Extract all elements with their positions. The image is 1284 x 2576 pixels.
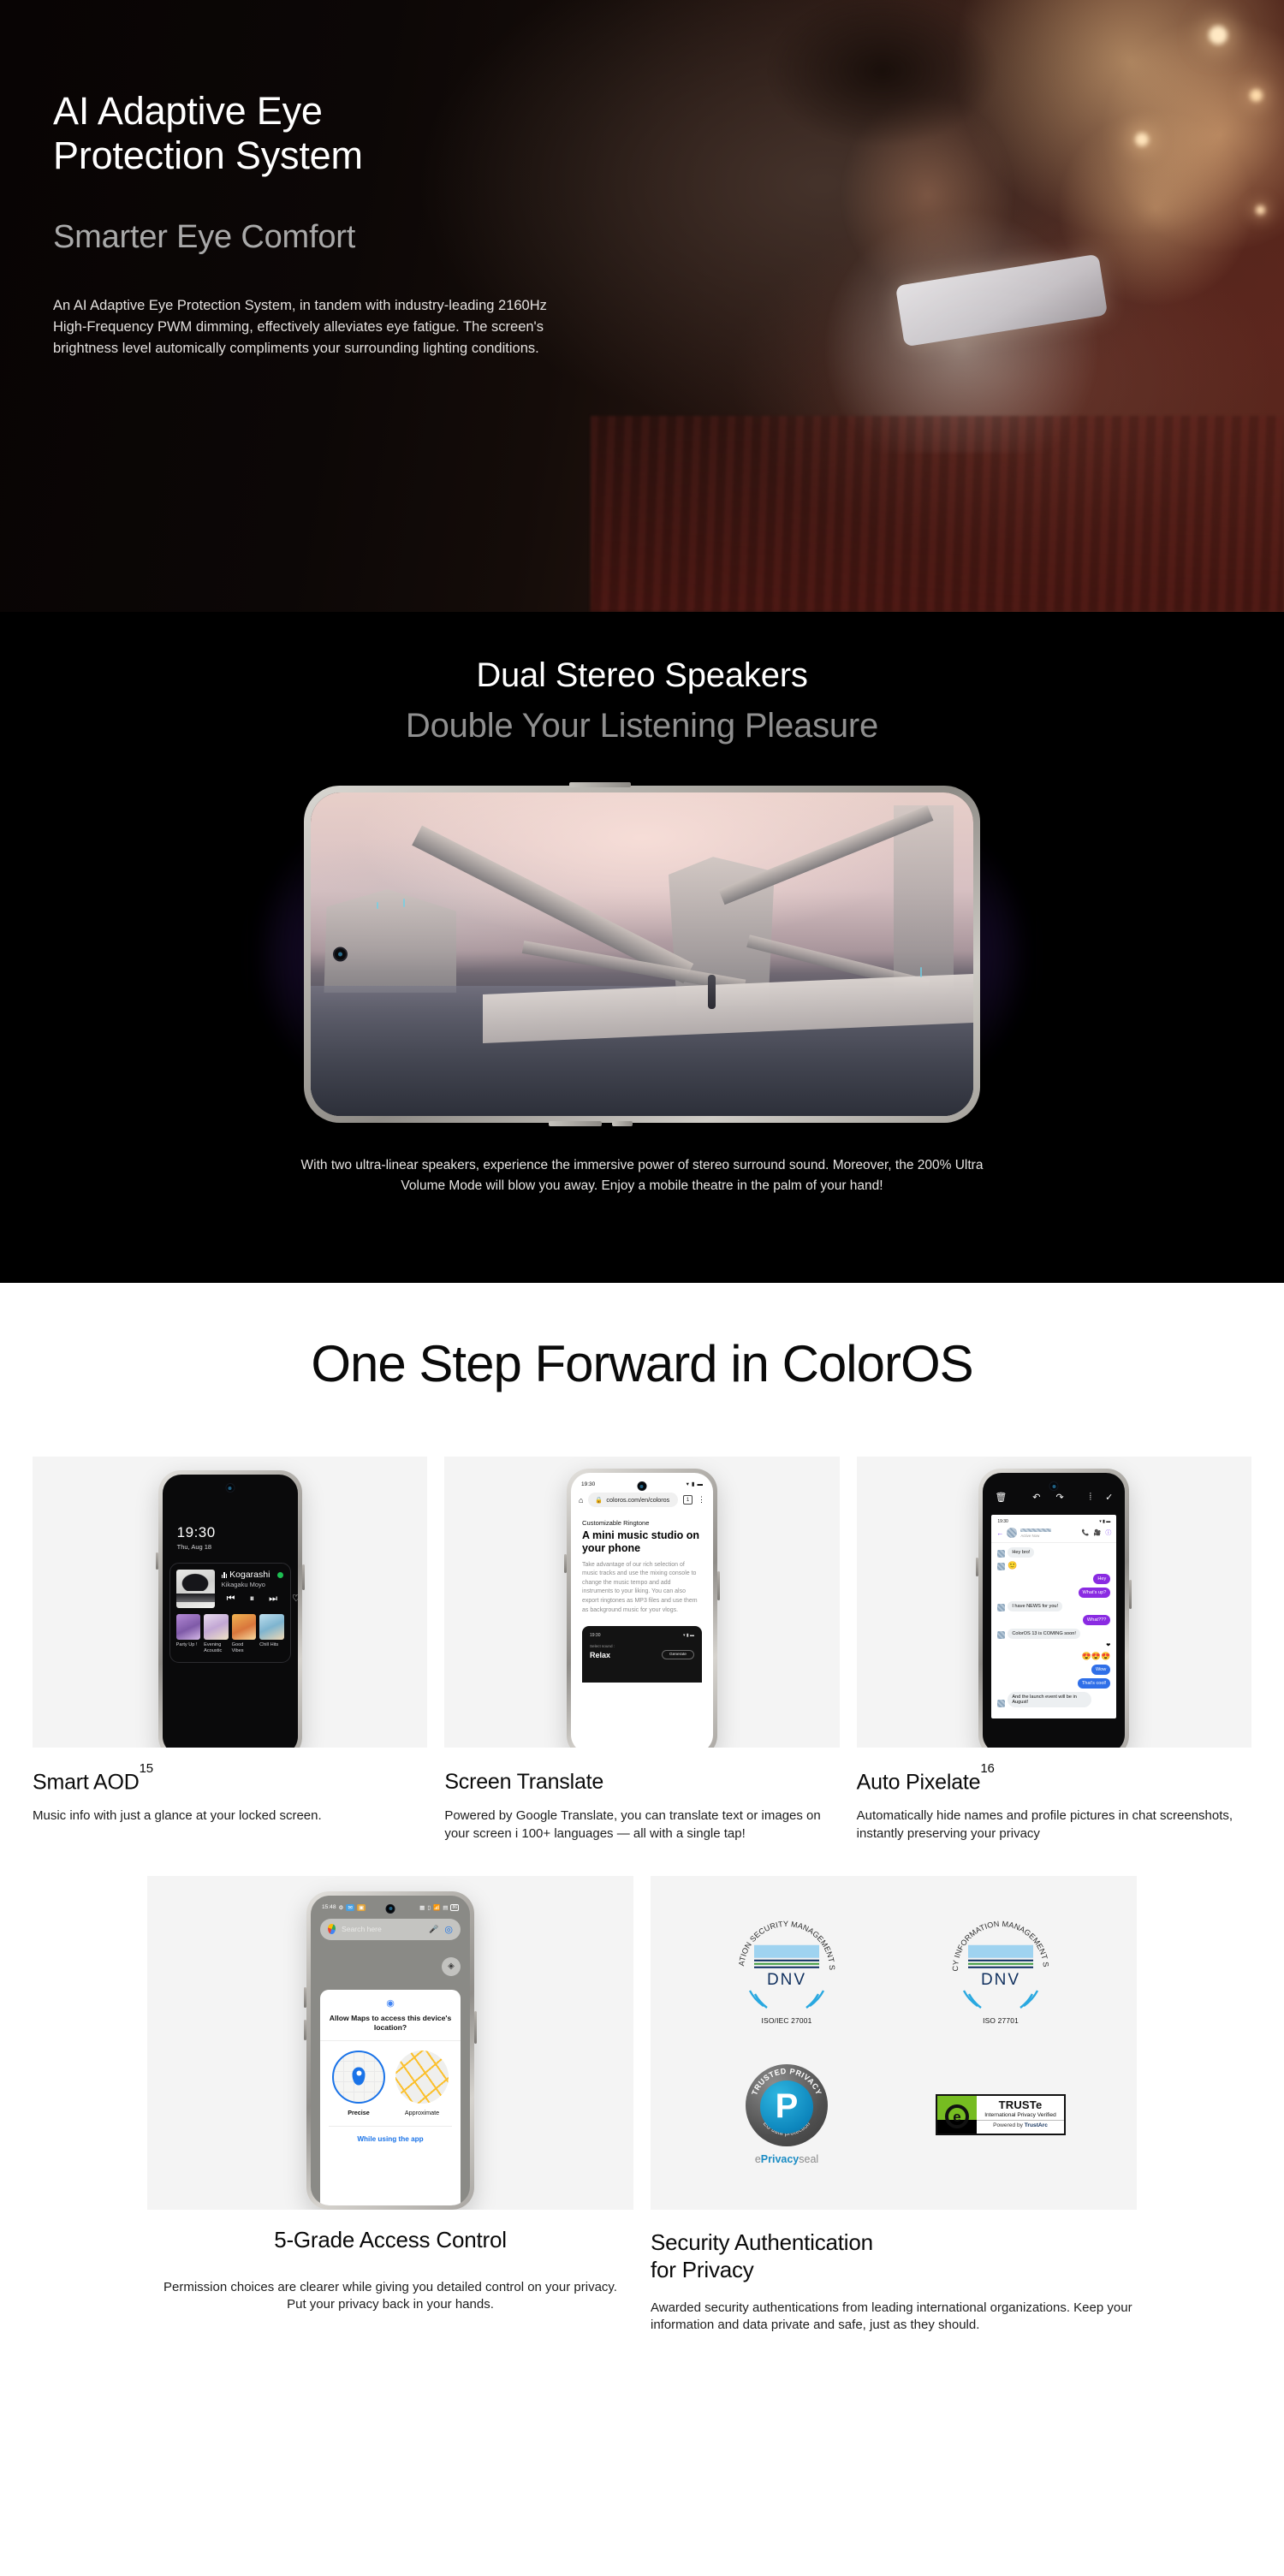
- mini-time: 19:30: [590, 1633, 601, 1638]
- phone-side-button: [474, 2011, 477, 2044]
- message-bubble: Hey bro!: [1008, 1547, 1034, 1558]
- aod-music-widget[interactable]: Kogarashi Kikagaku Moyo ⏮ ⏸ ⏭: [169, 1563, 291, 1663]
- card-title-screen-translate: Screen Translate: [444, 1770, 839, 1795]
- eprivacy-seal-icon: TRUSTED PRIVACY EU data protection P: [746, 2064, 828, 2146]
- dnv-logo: DNV: [754, 1944, 819, 1990]
- permission-options[interactable]: Precise Approximate: [329, 2051, 452, 2116]
- front-camera-icon: [637, 1481, 646, 1491]
- powered-by-text: Powered by: [993, 2122, 1025, 2128]
- card-security-media: INFORMATION SECURITY MANAGEMENT SYSTEM D…: [651, 1876, 1137, 2210]
- game-scene-art: [311, 792, 973, 1116]
- truste-e-icon: e: [945, 2104, 969, 2128]
- badge-eprivacyseal: TRUSTED PRIVACY EU data protection P: [746, 2064, 828, 2165]
- card-desc-smart-aod: Music info with just a glance at your lo…: [33, 1807, 427, 1825]
- phone-mockup-pixelate: 🗑 ↶ ↷ ⦙ ✓ 19:30 ▾: [978, 1469, 1129, 1748]
- card-desc-access-control: Permission choices are clearer while giv…: [147, 2279, 633, 2314]
- game-tower: [894, 805, 954, 993]
- aod-artist: Kikagaku Moyo: [222, 1581, 284, 1588]
- card-access-control-media: 15:48 ⚙ ✉ ▣ ▦ ▯ 📶 ▤ 8: [147, 1876, 633, 2210]
- product-page: AI Adaptive Eye Protection System Smarte…: [0, 0, 1284, 2576]
- dnv-standard-27701: ISO 27701: [937, 2016, 1064, 2025]
- eprivacy-letter: P: [776, 2089, 799, 2123]
- status-right: ▦ ▯ 📶 ▤ 86: [419, 1904, 459, 1911]
- dnv-ring-27701: PRIVACY INFORMATION MANAGEMENT SYSTEM DN…: [947, 1915, 1055, 2023]
- footnote-marker: 16: [980, 1761, 994, 1776]
- check-icon[interactable]: ✓: [1105, 1492, 1113, 1503]
- dnv-flag-icon: [968, 1944, 1033, 1968]
- list-item: What's up?: [997, 1588, 1110, 1598]
- lock-icon: 🔒: [595, 1496, 603, 1504]
- mini-sound-name: Relax: [590, 1651, 610, 1659]
- list-item[interactable]: Good Vibes: [232, 1614, 257, 1654]
- heart-reaction-icon: ❤: [1106, 1642, 1110, 1648]
- list-item: Hey: [997, 1574, 1110, 1584]
- aod-track-title: Kogarashi: [229, 1570, 270, 1580]
- landscape-phone-screen: [311, 792, 973, 1116]
- bokeh-light-icon: [1250, 89, 1263, 102]
- trash-icon[interactable]: 🗑: [995, 1492, 1007, 1503]
- landscape-phone-mockup: [304, 786, 980, 1123]
- search-placeholder: Search here: [342, 1925, 423, 1933]
- front-camera-icon: [1049, 1481, 1059, 1491]
- eye-protection-heading: AI Adaptive Eye Protection System: [53, 89, 601, 178]
- phone-side-button: [717, 1571, 720, 1600]
- dual-stereo-speakers-section: Dual Stereo Speakers Double Your Listeni…: [0, 612, 1284, 1283]
- approximate-map-preview: [395, 2051, 449, 2104]
- list-item[interactable]: Chill Hits: [259, 1614, 284, 1654]
- playlist-label: Chill Hits: [259, 1642, 284, 1648]
- contact-status: Active Now: [1020, 1534, 1051, 1538]
- video-call-icon[interactable]: 🎥: [1094, 1529, 1102, 1536]
- more-menu-icon[interactable]: ⋮: [698, 1495, 705, 1505]
- truste-mark: e: [937, 2096, 977, 2134]
- rug-texture: [591, 416, 1284, 612]
- truste-text: TRUSTe International Privacy Verified Po…: [977, 2096, 1064, 2134]
- aod-track-meta: Kogarashi Kikagaku Moyo ⏮ ⏸ ⏭: [222, 1570, 284, 1604]
- message-emoji: 😍😍😍: [1082, 1652, 1111, 1661]
- prev-icon[interactable]: ⏮: [227, 1594, 235, 1604]
- phone-mockup-aod: 19:30 Thu, Aug 18 Kogarashi: [158, 1470, 302, 1748]
- dnv-flag-icon: [754, 1944, 819, 1968]
- spotify-icon: [276, 1571, 284, 1579]
- speakers-subheading: Double Your Listening Pleasure: [0, 707, 1284, 745]
- badge-truste: e TRUSTe International Privacy Verified …: [936, 2094, 1066, 2135]
- front-camera-icon: [225, 1483, 235, 1493]
- chat-header-icons[interactable]: 📞 🎥 ⓘ: [1082, 1528, 1111, 1537]
- playlist-thumb: [232, 1614, 257, 1640]
- caption-seal: seal: [799, 2153, 818, 2165]
- card-title-text: Screen Translate: [444, 1770, 603, 1794]
- pixelated-contact-name: [1020, 1528, 1051, 1533]
- option-label: Approximate: [395, 2109, 449, 2116]
- message-bubble: I have NEWS for you!: [1008, 1601, 1062, 1611]
- phone-button-bottom: [549, 1121, 602, 1126]
- sim-icon: ▯: [427, 1904, 431, 1911]
- home-icon[interactable]: ⌂: [579, 1496, 583, 1505]
- wifi-icon: 📶: [433, 1904, 440, 1911]
- eprivacy-p-circle: P: [760, 2080, 813, 2134]
- list-item: I have NEWS for you!: [997, 1601, 1110, 1611]
- badge-dnv-iso-27701: PRIVACY INFORMATION MANAGEMENT SYSTEM DN…: [937, 1915, 1064, 2025]
- mini-label: Select sound :: [590, 1644, 694, 1648]
- truste-title: TRUSTe: [977, 2098, 1064, 2111]
- message-bubble: What's up?: [1079, 1588, 1111, 1598]
- card-title-access-control: 5-Grade Access Control: [147, 2227, 633, 2253]
- badge-truste-wrapper: e TRUSTe International Privacy Verified …: [936, 2094, 1066, 2135]
- phone-volume-button: [564, 1554, 567, 1573]
- list-item[interactable]: Evening Acoustic: [204, 1614, 229, 1654]
- page-eyebrow: Customizable Ringtone: [582, 1519, 702, 1527]
- precise-map-preview: [332, 2051, 385, 2104]
- speakers-stage: [0, 759, 1284, 1149]
- front-camera-icon: [386, 1904, 395, 1914]
- maps-screen: 15:48 ⚙ ✉ ▣ ▦ ▯ 📶 ▤ 8: [311, 1896, 470, 2205]
- message-bubble: What???: [1083, 1615, 1110, 1625]
- card-title-auto-pixelate: Auto Pixelate16: [857, 1770, 1251, 1795]
- contact-block: Active Now: [1020, 1528, 1051, 1538]
- chat-messages: Hey bro! 🙂 Hey: [991, 1543, 1116, 1712]
- location-pin-icon: ◉: [329, 1999, 452, 2009]
- list-item: That's cool!: [997, 1678, 1110, 1689]
- eye-protection-body: An AI Adaptive Eye Protection System, in…: [53, 295, 558, 359]
- card-access-control[interactable]: 15:48 ⚙ ✉ ▣ ▦ ▯ 📶 ▤ 8: [147, 1876, 633, 2314]
- card-title-text: Auto Pixelate: [857, 1770, 981, 1794]
- message-bubble: Hey: [1093, 1574, 1110, 1584]
- pixelated-avatar: [997, 1700, 1005, 1707]
- eye-protection-section: AI Adaptive Eye Protection System Smarte…: [0, 0, 1284, 612]
- mini-status-icons: ▾ ▮ ▬: [683, 1633, 694, 1638]
- footnote-marker: 15: [140, 1761, 153, 1776]
- while-using-app-button[interactable]: While using the app: [329, 2126, 452, 2143]
- url-text: coloros.com/en/coloros: [606, 1496, 669, 1504]
- coloros-section: One Step Forward in ColorOS 19:30 Thu, A…: [0, 1283, 1284, 2335]
- aod-now-playing: Kogarashi Kikagaku Moyo ⏮ ⏸ ⏭: [176, 1570, 284, 1608]
- chat-time: 19:30: [997, 1519, 1008, 1524]
- card-screen-translate[interactable]: 19:30 ▾ ▮ ▬ ⌂ 🔒: [444, 1457, 839, 1843]
- phone-mockup-maps: 15:48 ⚙ ✉ ▣ ▦ ▯ 📶 ▤ 8: [306, 1891, 474, 2210]
- status-time: 19:30: [581, 1481, 595, 1487]
- google-maps-icon: [328, 1924, 336, 1934]
- playlist-label: Party Up !: [176, 1642, 201, 1648]
- card-desc-auto-pixelate: Automatically hide names and profile pic…: [857, 1807, 1251, 1843]
- phone-volume-button-2: [304, 2020, 306, 2040]
- permission-question: Allow Maps to access this device's locat…: [329, 2014, 452, 2033]
- chat-screenshot: 19:30 ▾ ▮ ▬ ← Active Now: [991, 1515, 1116, 1718]
- back-icon[interactable]: ←: [996, 1529, 1003, 1537]
- option-label: Precise: [332, 2109, 385, 2116]
- gear-icon: ⚙: [339, 1904, 344, 1911]
- avatar[interactable]: ◎: [444, 1924, 453, 1935]
- phone-volume-button: [976, 1558, 978, 1576]
- option-precise[interactable]: Precise: [332, 2051, 385, 2116]
- album-art: [176, 1570, 215, 1608]
- pause-icon[interactable]: ⏸: [250, 1594, 255, 1604]
- phone-side-button: [1129, 1580, 1132, 1609]
- list-item[interactable]: Party Up !: [176, 1614, 201, 1654]
- dnv-ring-27001: INFORMATION SECURITY MANAGEMENT SYSTEM D…: [733, 1915, 841, 2023]
- browser-toolbar[interactable]: ⌂ 🔒 coloros.com/en/coloros 1 ⋮: [571, 1487, 713, 1514]
- card-title-text: Smart AOD: [33, 1770, 140, 1794]
- feature-cards-row: 19:30 Thu, Aug 18 Kogarashi: [0, 1457, 1284, 1843]
- phone-mockup-translate: 19:30 ▾ ▮ ▬ ⌂ 🔒: [567, 1469, 717, 1748]
- message-bubble: Wow: [1091, 1665, 1110, 1675]
- reaction-row: ❤: [997, 1642, 1110, 1648]
- search-input[interactable]: Search here 🎤 ◎: [320, 1919, 461, 1940]
- truste-powered-by: Powered by TrustArc: [977, 2120, 1064, 2128]
- card-desc-security: Awarded security authentications from le…: [651, 2300, 1137, 2335]
- aod-time: 19:30: [177, 1524, 298, 1541]
- wifi-icon: ▾: [687, 1481, 689, 1487]
- playlist-thumb: [176, 1614, 201, 1640]
- phone-button-top: [569, 782, 631, 787]
- phone-volume-button: [156, 1552, 158, 1570]
- message-emoji: 🙂: [1008, 1561, 1017, 1570]
- aod-playlist-row[interactable]: Party Up ! Evening Acoustic Good Vibes: [176, 1614, 284, 1654]
- caption-e: e: [755, 2153, 761, 2165]
- dnv-wordmark: DNV: [754, 1971, 819, 1990]
- generate-button[interactable]: Generate: [662, 1650, 694, 1659]
- eprivacy-caption: ePrivacyseal: [746, 2153, 828, 2165]
- equalizer-icon: [222, 1571, 228, 1578]
- mini-row: Relax Generate: [590, 1650, 694, 1659]
- bokeh-light-icon: [1209, 26, 1228, 45]
- message-bubble: That's cool!: [1078, 1678, 1110, 1689]
- card-desc-screen-translate: Powered by Google Translate, you can tra…: [444, 1807, 839, 1843]
- address-bar[interactable]: 🔒 coloros.com/en/coloros: [588, 1493, 678, 1507]
- game-light: [920, 967, 922, 977]
- list-item: Hey bro!: [997, 1547, 1110, 1558]
- divider: [320, 2040, 461, 2041]
- web-page-content: Customizable Ringtone A mini music studi…: [571, 1514, 713, 1615]
- battery-icon: 86: [450, 1904, 459, 1911]
- pixelate-screen: 🗑 ↶ ↷ ⦙ ✓ 19:30 ▾: [983, 1473, 1125, 1748]
- aod-transport-controls[interactable]: ⏮ ⏸ ⏭ ♡: [227, 1594, 284, 1604]
- map-layers-button[interactable]: ◈: [442, 1957, 461, 1976]
- share-icon[interactable]: ⦙: [1090, 1492, 1091, 1503]
- status-icons: ▾ ▮ ▬: [687, 1481, 703, 1487]
- card-auto-pixelate[interactable]: 🗑 ↶ ↷ ⦙ ✓ 19:30 ▾: [857, 1457, 1251, 1843]
- tab-count-button[interactable]: 1: [683, 1495, 693, 1505]
- card-smart-aod-media: 19:30 Thu, Aug 18 Kogarashi: [33, 1457, 427, 1748]
- pixelated-avatar: [997, 1631, 1005, 1639]
- phone-volume-button: [304, 1987, 306, 2008]
- message-bubble: ColorOS 13 is COMING soon!: [1008, 1629, 1080, 1639]
- location-permission-dialog: ◉ Allow Maps to access this device's loc…: [320, 1990, 461, 2205]
- card-title-smart-aod: Smart AOD15: [33, 1770, 427, 1795]
- coloros-title: One Step Forward in ColorOS: [0, 1334, 1284, 1457]
- dnv-logo: DNV: [968, 1944, 1033, 1990]
- list-item: ColorOS 13 is COMING soon!: [997, 1629, 1110, 1639]
- trustarc-brand: TrustArc: [1025, 2122, 1048, 2128]
- card-security-authentication[interactable]: INFORMATION SECURITY MANAGEMENT SYSTEM D…: [651, 1876, 1137, 2335]
- pixelated-avatar: [997, 1550, 1005, 1558]
- signal-icon: ▮: [692, 1481, 695, 1487]
- chat-header: ← Active Now 📞 🎥 ⓘ: [991, 1524, 1116, 1543]
- dnv-wordmark: DNV: [968, 1971, 1033, 1990]
- truste-subtitle: International Privacy Verified: [977, 2112, 1064, 2118]
- phone-button-bottom-secondary: [612, 1121, 633, 1126]
- reaction-row: 😍😍😍: [997, 1652, 1110, 1661]
- heart-icon[interactable]: ♡: [292, 1594, 298, 1604]
- aod-screen: 19:30 Thu, Aug 18 Kogarashi: [163, 1475, 298, 1748]
- dnv-standard-27001: ISO/IEC 27001: [723, 2016, 850, 2025]
- battery-icon: ▬: [697, 1481, 703, 1487]
- ringtone-studio-preview: 19:30 ▾ ▮ ▬ Select sound : Relax Generat…: [582, 1626, 702, 1683]
- list-item: And the launch event will be in August!: [997, 1692, 1110, 1707]
- message-bubble: And the launch event will be in August!: [1008, 1692, 1091, 1707]
- pixelated-avatar: [997, 1563, 1005, 1570]
- eye-protection-subheading: Smarter Eye Comfort: [53, 219, 601, 256]
- front-camera-icon: [333, 947, 348, 961]
- list-item: 🙂: [997, 1561, 1110, 1570]
- phone-call-icon[interactable]: 📞: [1082, 1529, 1090, 1536]
- chat-status-icons: ▾ ▮ ▬: [1099, 1519, 1110, 1524]
- page-headline: A mini music studio on your phone: [582, 1529, 702, 1555]
- map-pin-icon: [353, 2067, 366, 2085]
- list-item: What???: [997, 1615, 1110, 1625]
- aod-track-row: Kogarashi: [222, 1570, 284, 1580]
- playlist-label: Good Vibes: [232, 1642, 257, 1654]
- playlist-thumb: [204, 1614, 229, 1640]
- caption-privacy: Privacy: [761, 2153, 799, 2165]
- pixelated-avatar: [997, 1604, 1005, 1611]
- option-approximate[interactable]: Approximate: [395, 2051, 449, 2116]
- mic-icon[interactable]: 🎤: [429, 1925, 438, 1934]
- signal-icon: ▤: [443, 1904, 448, 1911]
- app-icon: ▣: [357, 1904, 366, 1911]
- game-city-left: [324, 882, 456, 993]
- translate-screen: 19:30 ▾ ▮ ▬ ⌂ 🔒: [571, 1473, 713, 1748]
- playlist-thumb: [259, 1614, 284, 1640]
- wide-cards-row: 15:48 ⚙ ✉ ▣ ▦ ▯ 📶 ▤ 8: [0, 1843, 1284, 2335]
- eye-protection-copy: AI Adaptive Eye Protection System Smarte…: [53, 89, 601, 359]
- playlist-label: Evening Acoustic: [204, 1642, 229, 1654]
- badge-dnv-iso-27001: INFORMATION SECURITY MANAGEMENT SYSTEM D…: [723, 1915, 850, 2025]
- page-paragraph: Take advantage of our rich selection of …: [582, 1561, 702, 1616]
- undo-icon[interactable]: ↶: [1032, 1492, 1040, 1503]
- redo-icon[interactable]: ↷: [1055, 1492, 1063, 1503]
- game-character: [708, 975, 716, 1009]
- aod-date: Thu, Aug 18: [177, 1543, 298, 1551]
- person-figure: [668, 0, 1233, 453]
- card-title-security: Security Authentication for Privacy: [651, 2229, 1137, 2284]
- status-time: 15:48: [322, 1904, 336, 1910]
- phone-side-button: [302, 1564, 305, 1590]
- avatar: [1007, 1528, 1017, 1538]
- chat-status-bar: 19:30 ▾ ▮ ▬: [991, 1515, 1116, 1524]
- message-icon: ✉: [346, 1904, 354, 1911]
- speakers-heading: Dual Stereo Speakers: [0, 612, 1284, 695]
- status-left: 15:48 ⚙ ✉ ▣: [322, 1904, 366, 1911]
- list-item: Wow: [997, 1665, 1110, 1675]
- speakers-body: With two ultra-linear speakers, experien…: [300, 1149, 984, 1196]
- card-auto-pixelate-media: 🗑 ↶ ↷ ⦙ ✓ 19:30 ▾: [857, 1457, 1251, 1748]
- next-icon[interactable]: ⏭: [269, 1594, 277, 1604]
- mini-status-bar: 19:30 ▾ ▮ ▬: [590, 1633, 694, 1638]
- certification-badges: INFORMATION SECURITY MANAGEMENT SYSTEM D…: [651, 1876, 1137, 2210]
- card-smart-aod[interactable]: 19:30 Thu, Aug 18 Kogarashi: [33, 1457, 427, 1825]
- card-screen-translate-media: 19:30 ▾ ▮ ▬ ⌂ 🔒: [444, 1457, 839, 1748]
- info-icon[interactable]: ⓘ: [1105, 1528, 1111, 1537]
- vibrate-icon: ▦: [419, 1904, 425, 1911]
